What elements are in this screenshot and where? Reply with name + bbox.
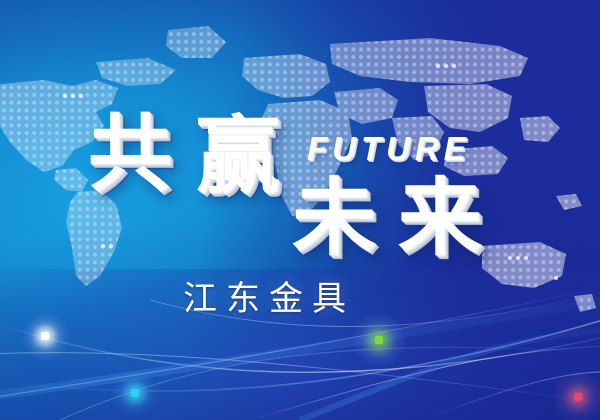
headline-latin-future: FUTURE: [307, 130, 471, 168]
promo-banner: 共 赢 FUTURE 未 来 江东金具: [0, 0, 600, 420]
headline-char-lai: 来: [398, 176, 482, 260]
headline-char-gong: 共: [88, 112, 172, 196]
company-name: 江东金具: [183, 271, 355, 320]
headline-char-wei: 未: [292, 176, 376, 260]
headline-stage: 共 赢 FUTURE 未 来 江东金具: [0, 0, 600, 420]
headline-char-ying: 赢: [196, 114, 280, 198]
